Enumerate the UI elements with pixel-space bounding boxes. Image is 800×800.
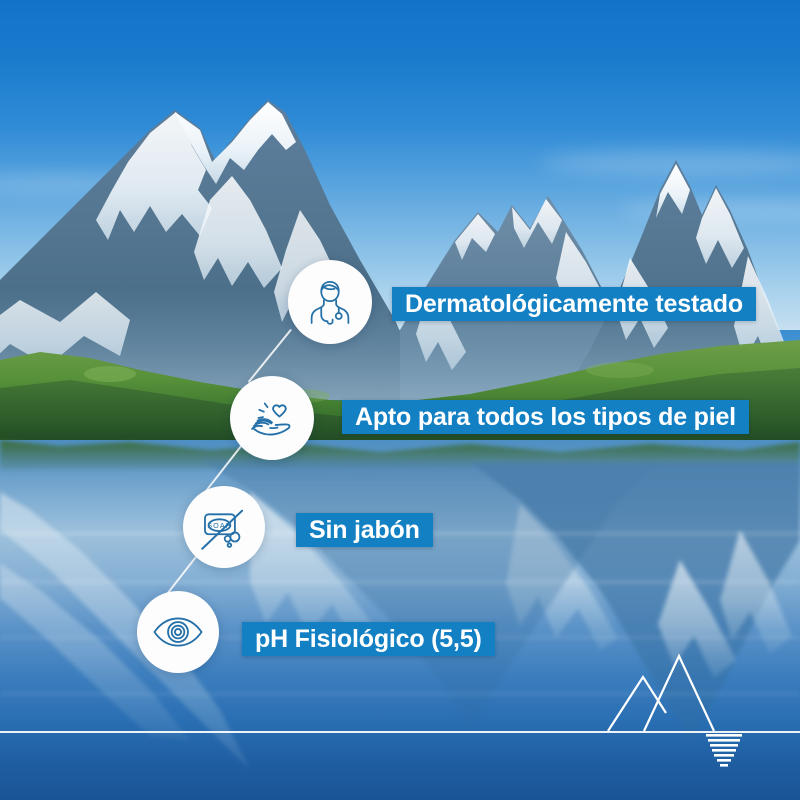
chip-label: Sin jabón	[309, 516, 420, 545]
badge-all-skin-types[interactable]	[230, 376, 314, 460]
benefits-banner: SOAP Dermatológicamente testado Apto par…	[0, 0, 800, 800]
badge-dermatologically-tested[interactable]	[288, 260, 372, 344]
chip-label: pH Fisiológico (5,5)	[255, 625, 482, 654]
chip-all-skin-types[interactable]: Apto para todos los tipos de piel	[342, 400, 749, 434]
no-soap-icon: SOAP	[195, 498, 253, 556]
doctor-stethoscope-icon	[302, 274, 358, 330]
chip-label: Apto para todos los tipos de piel	[355, 403, 736, 432]
mountain-reflection-logo	[596, 648, 776, 768]
badge-soap-free[interactable]: SOAP	[183, 486, 265, 568]
hand-heart-icon	[243, 389, 301, 447]
chip-soap-free[interactable]: Sin jabón	[296, 513, 433, 547]
eye-icon	[149, 603, 207, 661]
badge-physiological-ph[interactable]	[137, 591, 219, 673]
chip-dermatologically-tested[interactable]: Dermatológicamente testado	[392, 287, 756, 321]
chip-label: Dermatológicamente testado	[405, 290, 743, 319]
chip-physiological-ph[interactable]: pH Fisiológico (5,5)	[242, 622, 495, 656]
